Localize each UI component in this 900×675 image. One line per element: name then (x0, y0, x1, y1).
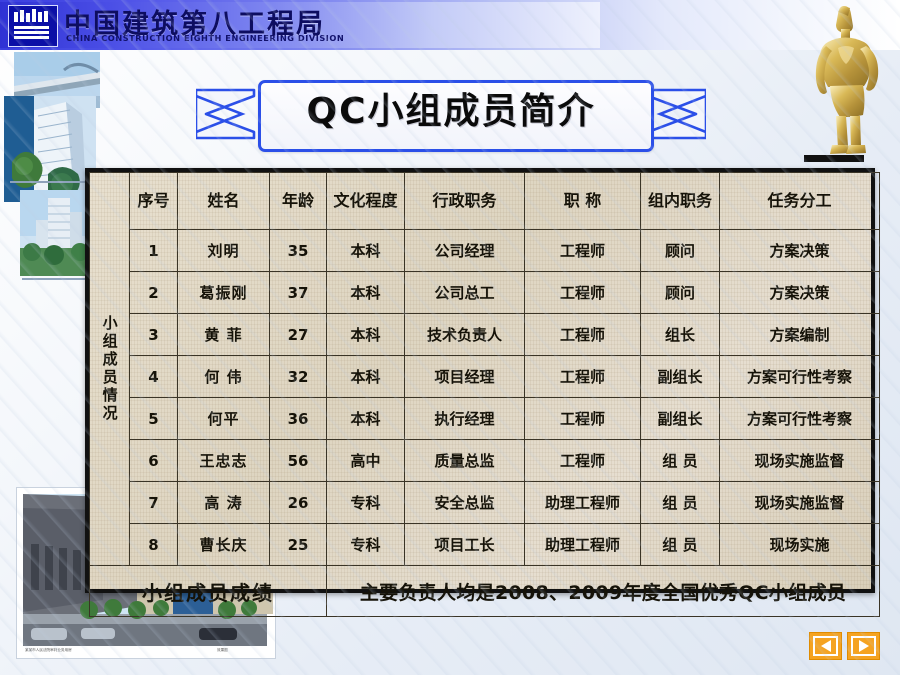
col-header-seq: 序号 (130, 173, 178, 230)
cell-name: 王忠志 (178, 440, 270, 482)
col-header-job-title: 职 称 (525, 173, 641, 230)
cell-seq: 6 (130, 440, 178, 482)
tower-building-photo (4, 96, 96, 202)
cell-name: 刘明 (178, 230, 270, 272)
col-header-group-role: 组内职务 (641, 173, 720, 230)
cell-education: 本科 (327, 230, 405, 272)
cell-group-role: 顾问 (641, 272, 720, 314)
cell-age: 56 (270, 440, 327, 482)
cell-task: 现场实施监督 (720, 440, 880, 482)
cell-task: 方案可行性考察 (720, 398, 880, 440)
cell-seq: 8 (130, 524, 178, 566)
cell-age: 37 (270, 272, 327, 314)
cell-education: 本科 (327, 398, 405, 440)
cell-education: 本科 (327, 272, 405, 314)
cell-seq: 7 (130, 482, 178, 524)
cell-group-role: 组长 (641, 314, 720, 356)
col-header-age: 年龄 (270, 173, 327, 230)
header-band: 中国建筑第八工程局 CHINA CONSTRUCTION EIGHTH ENGI… (0, 0, 900, 50)
cell-group-role: 副组长 (641, 356, 720, 398)
prev-arrow-icon (813, 636, 838, 656)
cell-position: 公司总工 (405, 272, 525, 314)
cell-name: 何 伟 (178, 356, 270, 398)
qc-member-table: 小组成员情况 序号 姓名 年龄 文化程度 行政职务 职 称 组内职务 任务分工 … (85, 168, 875, 593)
footer-text: 主要负责人均是2008、2009年度全国优秀QC小组成员 (327, 566, 880, 617)
cell-seq: 1 (130, 230, 178, 272)
cell-seq: 4 (130, 356, 178, 398)
cell-group-role: 顾问 (641, 230, 720, 272)
row-group-label-text: 小组成员情况 (101, 315, 117, 423)
page-title: QC小组成员简介 (196, 82, 706, 134)
cell-task: 方案可行性考察 (720, 356, 880, 398)
table-row: 2 葛振刚 37 本科 公司总工 工程师 顾问 方案决策 (90, 272, 880, 314)
table-row: 6 王忠志 56 高中 质量总监 工程师 组 员 现场实施监督 (90, 440, 880, 482)
cell-education: 专科 (327, 482, 405, 524)
cell-group-role: 副组长 (641, 398, 720, 440)
cell-name: 黄 菲 (178, 314, 270, 356)
table-footer-row: 小组成员成绩 主要负责人均是2008、2009年度全国优秀QC小组成员 (90, 566, 880, 617)
cell-age: 35 (270, 230, 327, 272)
cell-job-title: 工程师 (525, 230, 641, 272)
cell-age: 25 (270, 524, 327, 566)
cell-task: 方案决策 (720, 272, 880, 314)
cell-job-title: 工程师 (525, 440, 641, 482)
table-row: 1 刘明 35 本科 公司经理 工程师 顾问 方案决策 (90, 230, 880, 272)
cell-task: 方案编制 (720, 314, 880, 356)
cell-job-title: 工程师 (525, 314, 641, 356)
col-header-task: 任务分工 (720, 173, 880, 230)
cell-age: 27 (270, 314, 327, 356)
title-ribbon: QC小组成员简介 (196, 74, 706, 152)
row-group-label: 小组成员情况 (90, 173, 130, 566)
cell-age: 32 (270, 356, 327, 398)
col-header-education: 文化程度 (327, 173, 405, 230)
next-arrow-icon (851, 636, 876, 656)
table-row: 5 何平 36 本科 执行经理 工程师 副组长 方案可行性考察 (90, 398, 880, 440)
cell-group-role: 组 员 (641, 440, 720, 482)
table-row: 7 高 涛 26 专科 安全总监 助理工程师 组 员 现场实施监督 (90, 482, 880, 524)
cell-position: 项目经理 (405, 356, 525, 398)
cell-education: 本科 (327, 356, 405, 398)
cell-education: 专科 (327, 524, 405, 566)
slide-canvas: 中国建筑第八工程局 CHINA CONSTRUCTION EIGHTH ENGI… (0, 0, 900, 675)
cell-education: 本科 (327, 314, 405, 356)
courthouse-caption-right: 效果图 (217, 648, 228, 653)
cell-name: 曹长庆 (178, 524, 270, 566)
cell-seq: 5 (130, 398, 178, 440)
cell-education: 高中 (327, 440, 405, 482)
col-header-position: 行政职务 (405, 173, 525, 230)
cell-seq: 3 (130, 314, 178, 356)
cell-name: 葛振刚 (178, 272, 270, 314)
footer-label: 小组成员成绩 (90, 566, 327, 617)
cell-group-role: 组 员 (641, 524, 720, 566)
cell-position: 安全总监 (405, 482, 525, 524)
cell-age: 26 (270, 482, 327, 524)
cell-name: 高 涛 (178, 482, 270, 524)
next-slide-button[interactable] (847, 632, 880, 660)
prev-slide-button[interactable] (809, 632, 842, 660)
company-logo-icon (8, 5, 58, 47)
cell-seq: 2 (130, 272, 178, 314)
cell-position: 公司经理 (405, 230, 525, 272)
table-row: 8 曹长庆 25 专科 项目工长 助理工程师 组 员 现场实施 (90, 524, 880, 566)
slide-navigation (809, 632, 879, 660)
company-name-en: CHINA CONSTRUCTION EIGHTH ENGINEERING DI… (66, 33, 344, 43)
cell-position: 质量总监 (405, 440, 525, 482)
cell-task: 现场实施 (720, 524, 880, 566)
cell-task: 方案决策 (720, 230, 880, 272)
table-row: 4 何 伟 32 本科 项目经理 工程师 副组长 方案可行性考察 (90, 356, 880, 398)
cell-name: 何平 (178, 398, 270, 440)
cell-position: 技术负责人 (405, 314, 525, 356)
cell-task: 现场实施监督 (720, 482, 880, 524)
gold-statue-trophy (804, 2, 888, 162)
cell-position: 执行经理 (405, 398, 525, 440)
cell-group-role: 组 员 (641, 482, 720, 524)
cell-job-title: 工程师 (525, 356, 641, 398)
cell-job-title: 助理工程师 (525, 524, 641, 566)
table-header-row: 小组成员情况 序号 姓名 年龄 文化程度 行政职务 职 称 组内职务 任务分工 (90, 173, 880, 230)
col-header-name: 姓名 (178, 173, 270, 230)
table-row: 3 黄 菲 27 本科 技术负责人 工程师 组长 方案编制 (90, 314, 880, 356)
cell-position: 项目工长 (405, 524, 525, 566)
cell-job-title: 工程师 (525, 272, 641, 314)
cell-job-title: 助理工程师 (525, 482, 641, 524)
cell-job-title: 工程师 (525, 398, 641, 440)
cell-age: 36 (270, 398, 327, 440)
courthouse-caption: 某某市人民法院审判业务用房 (25, 648, 72, 653)
